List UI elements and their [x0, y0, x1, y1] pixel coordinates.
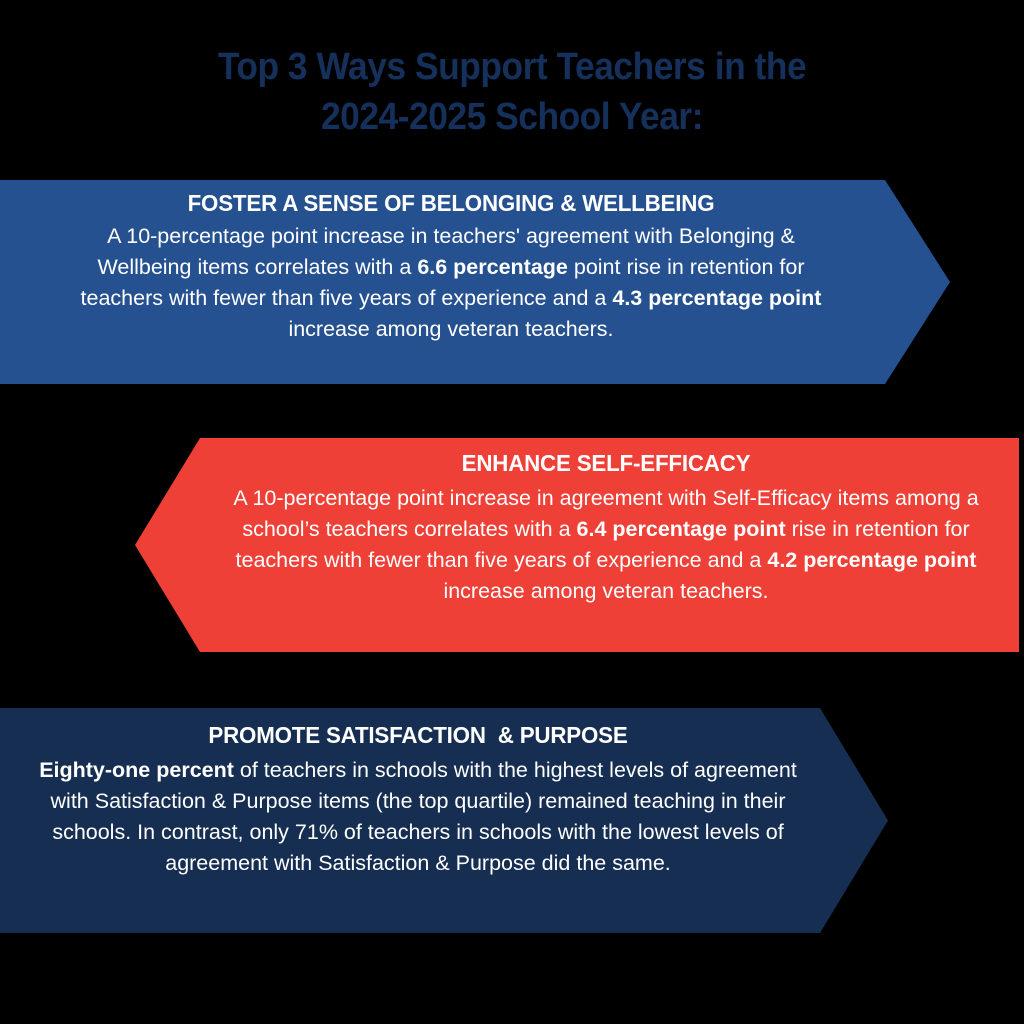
banner-belonging-wellbeing-body: A 10-percentage point increase in teache…	[52, 221, 850, 345]
infographic-poster: Top 3 Ways Support Teachers in the 2024-…	[0, 0, 1024, 1024]
banner-self-efficacy-content: ENHANCE SELF-EFFICACY A 10-percentage po…	[135, 438, 1019, 652]
banner-self-efficacy-body: A 10-percentage point increase in agreem…	[227, 483, 985, 607]
page-title: Top 3 Ways Support Teachers in the 2024-…	[36, 42, 988, 142]
banner-satisfaction-purpose-content: PROMOTE SATISFACTION & PURPOSE Eighty-on…	[0, 708, 888, 933]
banner-belonging-wellbeing-content: FOSTER A SENSE OF BELONGING & WELLBEING …	[0, 180, 950, 384]
banner-self-efficacy-heading: ENHANCE SELF-EFFICACY	[246, 450, 966, 477]
banner-belonging-wellbeing: FOSTER A SENSE OF BELONGING & WELLBEING …	[0, 180, 950, 384]
banner-satisfaction-purpose-body: Eighty-one percent of teachers in school…	[28, 755, 808, 879]
page-title-line-2: 2024-2025 School Year:	[36, 92, 988, 142]
banner-self-efficacy: ENHANCE SELF-EFFICACY A 10-percentage po…	[135, 438, 1019, 652]
page-title-line-1: Top 3 Ways Support Teachers in the	[36, 42, 988, 92]
banner-belonging-wellbeing-heading: FOSTER A SENSE OF BELONGING & WELLBEING	[72, 190, 830, 217]
banner-satisfaction-purpose: PROMOTE SATISFACTION & PURPOSE Eighty-on…	[0, 708, 888, 933]
banner-satisfaction-purpose-heading: PROMOTE SATISFACTION & PURPOSE	[48, 722, 789, 749]
